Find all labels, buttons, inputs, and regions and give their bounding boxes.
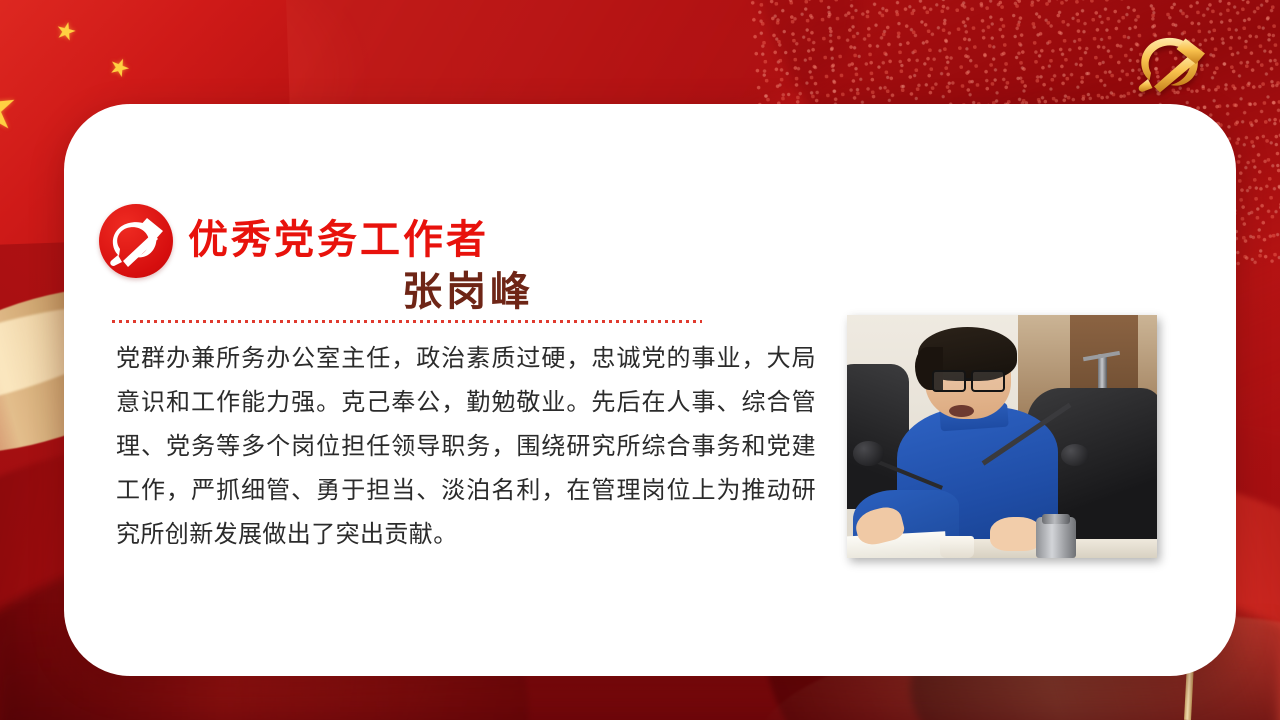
description-paragraph: 党群办兼所务办公室主任，政治素质过硬，忠诚党的事业，大局意识和工作能力强。克己奉…: [116, 336, 816, 556]
photo-eyeglass-bridge: [966, 378, 972, 381]
page-title: 优秀党务工作者: [188, 207, 489, 265]
cpc-hammer-sickle-emblem-icon: [1126, 28, 1218, 100]
photo-eyeglass-right: [971, 370, 1005, 392]
person-name: 张岗峰: [188, 259, 748, 317]
content-card: 优秀党务工作者 张岗峰 党群办兼所务办公室主任，政治素质过硬，忠诚党的事业，大局…: [64, 104, 1236, 676]
photo-microphone-head-right: [1061, 444, 1089, 466]
flag-star-large: ★: [0, 76, 22, 143]
photo-thermos-lid: [1042, 514, 1070, 524]
flag-star-1: ★: [52, 18, 79, 46]
photo-microphone-head-left: [853, 441, 884, 465]
photo-cup: [940, 536, 974, 558]
slide-stage: ★ ★ ★ ★ ★: [0, 0, 1280, 720]
portrait-photo-frame: [847, 315, 1157, 558]
photo-person-mouth: [949, 405, 974, 417]
portrait-photo: [847, 315, 1157, 558]
photo-eyeglass-left: [932, 370, 966, 392]
dotted-divider: [112, 320, 702, 323]
photo-person-hand-right: [990, 517, 1043, 551]
flag-star-2: ★: [105, 53, 134, 83]
cpc-hammer-sickle-badge-icon: [99, 204, 173, 278]
